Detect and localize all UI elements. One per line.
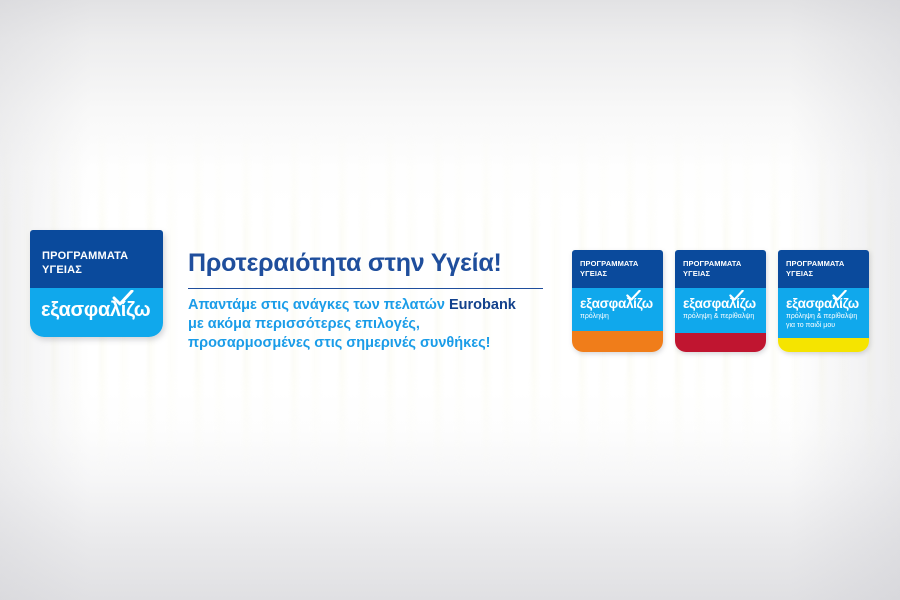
banner-subcopy: Απαντάμε στις ανάγκες των πελατών Euroba… — [188, 296, 528, 353]
mini-badge-kicker: ΠΡΟΓΡΑΜΜΑΤΑ ΥΓΕΙΑΣ — [580, 259, 638, 278]
brand-name: Eurobank — [449, 297, 516, 313]
mini-badge-prolipsi[interactable]: ΠΡΟΓΡΑΜΜΑΤΑ ΥΓΕΙΑΣ εξασφαλίζω πρόληψη — [572, 250, 663, 352]
mini-badge-body: εξασφαλίζω πρόληψη & περίθαλψη για το πα… — [778, 288, 869, 338]
mini-badge-kicker: ΠΡΟΓΡΑΜΜΑΤΑ ΥΓΕΙΑΣ — [683, 259, 741, 278]
mini-badge-body: εξασφαλίζω πρόληψη — [572, 288, 663, 331]
mini-badge-wordmark: εξασφαλίζω — [786, 296, 859, 311]
mini-badge-header: ΠΡΟΓΡΑΜΜΑΤΑ ΥΓΕΙΑΣ — [675, 250, 766, 288]
subcopy-part-2: με ακόμα περισσότερες επιλογές, προσαρμο… — [188, 316, 490, 351]
banner-canvas: ΠΡΟΓΡΑΜΜΑΤΑ ΥΓΕΙΑΣ εξασφαλίζω Προτεραιότ… — [0, 0, 900, 600]
main-badge-body: εξασφαλίζω — [30, 288, 163, 337]
red-strip — [675, 333, 766, 352]
title-divider — [188, 288, 543, 289]
mini-badge-prolipsi-perithalpsi[interactable]: ΠΡΟΓΡΑΜΜΑΤΑ ΥΓΕΙΑΣ εξασφαλίζω πρόληψη & … — [675, 250, 766, 352]
mini-badge-subtitle: πρόληψη — [580, 313, 609, 322]
main-badge-header: ΠΡΟΓΡΑΜΜΑΤΑ ΥΓΕΙΑΣ — [30, 230, 163, 288]
checkmark-icon — [112, 290, 134, 306]
mini-badge-header: ΠΡΟΓΡΑΜΜΑΤΑ ΥΓΕΙΑΣ — [778, 250, 869, 288]
main-badge-kicker: ΠΡΟΓΡΑΜΜΑΤΑ ΥΓΕΙΑΣ — [42, 250, 128, 277]
mini-badge-paidi-mou[interactable]: ΠΡΟΓΡΑΜΜΑΤΑ ΥΓΕΙΑΣ εξασφαλίζω πρόληψη & … — [778, 250, 869, 352]
checkmark-icon — [729, 290, 744, 301]
orange-strip — [572, 331, 663, 352]
mini-badge-subtitle: πρόληψη & περίθαλψη — [683, 313, 754, 322]
mini-badge-subtitle: πρόληψη & περίθαλψη για το παιδί μου — [786, 313, 857, 330]
checkmark-icon — [626, 290, 641, 301]
checkmark-icon — [832, 290, 847, 301]
mini-badge-wordmark: εξασφαλίζω — [683, 296, 756, 311]
mini-badge-kicker: ΠΡΟΓΡΑΜΜΑΤΑ ΥΓΕΙΑΣ — [786, 259, 844, 278]
page-title: Προτεραιότητα στην Υγεία! — [188, 249, 502, 278]
yellow-strip — [778, 338, 869, 352]
main-product-badge[interactable]: ΠΡΟΓΡΑΜΜΑΤΑ ΥΓΕΙΑΣ εξασφαλίζω — [30, 230, 163, 337]
mini-badge-header: ΠΡΟΓΡΑΜΜΑΤΑ ΥΓΕΙΑΣ — [572, 250, 663, 288]
subcopy-part-1: Απαντάμε στις ανάγκες των πελατών — [188, 297, 449, 313]
mini-badge-wordmark: εξασφαλίζω — [580, 296, 653, 311]
mini-badge-body: εξασφαλίζω πρόληψη & περίθαλψη — [675, 288, 766, 333]
